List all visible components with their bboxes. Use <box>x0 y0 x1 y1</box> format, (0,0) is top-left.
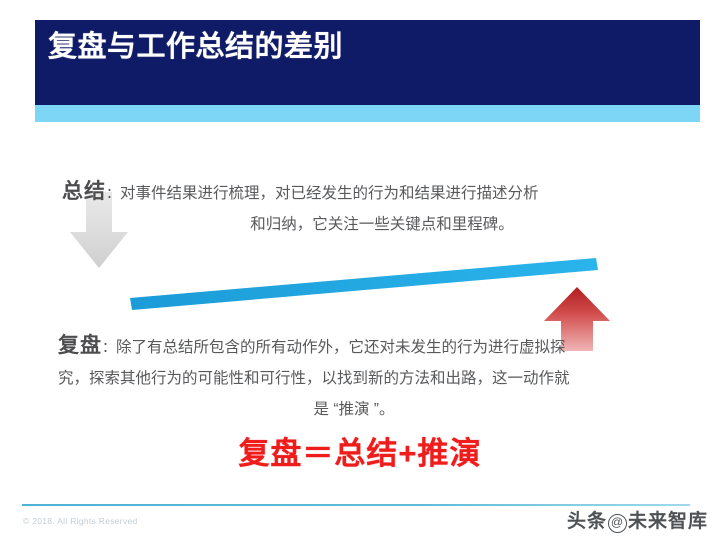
formula-text: 复盘＝总结+推演 <box>0 428 720 473</box>
summary-line-2: 和归纳，它关注一些关键点和里程碑。 <box>62 209 642 240</box>
watermark: 头条@未来智库 <box>567 506 708 533</box>
rising-trend-bar <box>120 250 610 320</box>
review-paragraph: 复盘：除了有总结所包含的所有动作外，它还对未发生的行为进行虚拟探 究，探索其他行… <box>58 330 650 425</box>
review-line-2: 究，探索其他行为的可能性和可行性，以找到新的方法和出路，这一动作就 <box>58 363 650 394</box>
summary-colon: ： <box>106 185 120 201</box>
copyright-text: © 2018. All Rights Reserved <box>23 516 138 526</box>
slide-canvas: 复盘与工作总结的差别 <box>0 0 720 540</box>
review-text-1: 除了有总结所包含的所有动作外，它还对未发生的行为进行虚拟探 <box>116 339 566 356</box>
title-accent-strip <box>35 105 700 122</box>
summary-lead-label: 总结 <box>62 180 106 203</box>
at-sign-icon: @ <box>608 514 627 533</box>
review-colon: ： <box>102 339 116 355</box>
watermark-prefix: 头条 <box>567 511 607 532</box>
summary-line-1: 总结：对事件结果进行梳理，对已经发生的行为和结果进行描述分析 <box>62 176 642 209</box>
summary-text-1: 对事件结果进行梳理，对已经发生的行为和结果进行描述分析 <box>120 185 539 202</box>
review-lead-label: 复盘 <box>58 334 102 357</box>
review-line-1: 复盘：除了有总结所包含的所有动作外，它还对未发生的行为进行虚拟探 <box>58 330 650 363</box>
page-title: 复盘与工作总结的差别 <box>48 33 343 62</box>
watermark-name: 未来智库 <box>628 511 708 532</box>
summary-paragraph: 总结：对事件结果进行梳理，对已经发生的行为和结果进行描述分析 和归纳，它关注一些… <box>62 176 642 240</box>
review-line-3: 是 “推演 ”。 <box>58 394 650 425</box>
